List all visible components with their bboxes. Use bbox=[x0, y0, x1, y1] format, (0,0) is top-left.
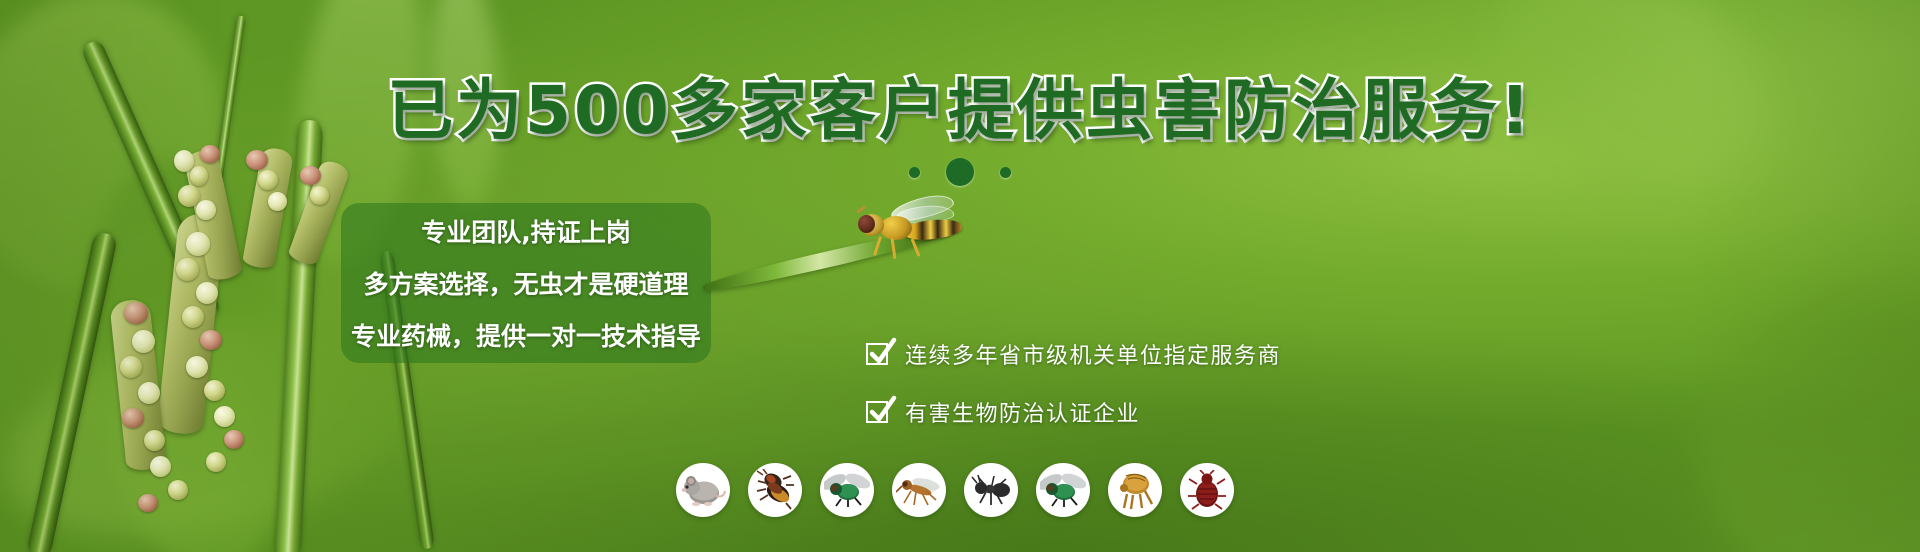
pest-icon-row bbox=[676, 463, 1234, 517]
banner-headline-text: 已为500多家客户提供虫害防治服务! bbox=[387, 72, 1533, 149]
list-item: 连续多年省市级机关单位指定服务商 bbox=[866, 338, 1281, 370]
flea-icon[interactable] bbox=[1108, 463, 1162, 517]
checklist-label: 有害生物防治认证企业 bbox=[905, 396, 1140, 428]
fly-icon-2[interactable] bbox=[1036, 463, 1090, 517]
decorative-dots bbox=[0, 158, 1920, 186]
feature-line-1: 专业团队,持证上岗 bbox=[421, 213, 631, 249]
feature-line-2: 多方案选择，无虫才是硬道理 bbox=[363, 265, 688, 301]
fly-icon[interactable] bbox=[820, 463, 874, 517]
checklist-label: 连续多年省市级机关单位指定服务商 bbox=[905, 338, 1281, 370]
dot-large-center bbox=[946, 158, 974, 186]
list-item: 有害生物防治认证企业 bbox=[866, 396, 1281, 428]
plant-stem bbox=[26, 231, 118, 552]
pest-control-hero-banner: 已为500多家客户提供虫害防治服务! 专业团队,持证上岗 多方案选择，无虫才是硬… bbox=[0, 0, 1920, 552]
dot-small-left bbox=[909, 167, 920, 178]
cockroach-icon[interactable] bbox=[748, 463, 802, 517]
feature-line-3: 专业药械，提供一对一技术指导 bbox=[351, 317, 701, 353]
feature-panel-text: 专业团队,持证上岗 多方案选择，无虫才是硬道理 专业药械，提供一对一技术指导 bbox=[341, 203, 711, 363]
ant-icon[interactable] bbox=[964, 463, 1018, 517]
mouse-icon[interactable] bbox=[676, 463, 730, 517]
checkbox-checked-icon bbox=[866, 399, 892, 425]
hoverfly-icon bbox=[852, 196, 962, 258]
banner-headline: 已为500多家客户提供虫害防治服务! bbox=[0, 75, 1920, 147]
hoverfly-illustration bbox=[700, 196, 1300, 306]
mosquito-icon[interactable] bbox=[892, 463, 946, 517]
dot-small-right bbox=[1000, 167, 1011, 178]
checkbox-checked-icon bbox=[866, 341, 892, 367]
bedbug-icon[interactable] bbox=[1180, 463, 1234, 517]
certification-checklist: 连续多年省市级机关单位指定服务商 有害生物防治认证企业 bbox=[866, 338, 1281, 428]
